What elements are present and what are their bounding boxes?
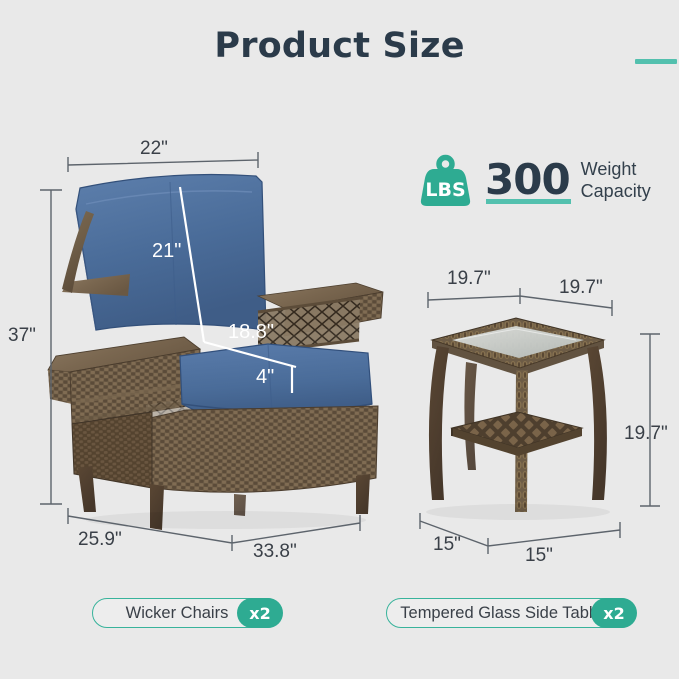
dim-table-top-depth: 19.7" <box>559 277 603 299</box>
dim-table-top-width: 19.7" <box>447 268 491 290</box>
product-illustrations <box>0 0 679 679</box>
title-underline-accent <box>635 59 677 64</box>
weight-capacity-block: LBS 300 Weight Capacity <box>418 152 651 208</box>
product-tag-chair[interactable]: Wicker Chairs x2 <box>92 598 282 630</box>
dim-chair-width-top: 22" <box>140 138 168 160</box>
product-tag-side-table-label: Tempered Glass Side Table <box>400 604 601 623</box>
product-tag-side-table[interactable]: Tempered Glass Side Table x2 <box>386 598 636 630</box>
product-tag-chair-label: Wicker Chairs <box>126 604 229 623</box>
weight-caption-line1: Weight <box>581 158 651 180</box>
lbs-icon-label: LBS <box>425 179 465 201</box>
dim-chair-depth-base: 25.9" <box>78 529 122 551</box>
infographic-canvas: Product Size <box>0 0 679 679</box>
title-container: Product Size <box>0 26 679 66</box>
cushion-callout-lines <box>180 187 296 393</box>
dim-chair-back-height: 21" <box>152 240 181 263</box>
dim-table-base-depth: 15" <box>433 534 461 556</box>
dim-chair-cushion-thickness: 4" <box>256 366 274 389</box>
page-title: Product Size <box>214 26 464 66</box>
product-tag-chair-pill[interactable]: Wicker Chairs x2 <box>92 598 282 628</box>
dimension-lines <box>40 152 660 554</box>
product-tag-side-table-pill[interactable]: Tempered Glass Side Table x2 <box>386 598 636 628</box>
weight-value: 300 <box>485 159 570 201</box>
dim-chair-seat-depth: 18.8" <box>228 321 274 344</box>
wicker-chair-illustration <box>48 175 383 531</box>
product-tag-chair-quantity: x2 <box>237 598 283 628</box>
dim-chair-width-base: 33.8" <box>253 541 297 563</box>
weight-value-wrap: 300 <box>485 159 570 201</box>
dim-table-base-width: 15" <box>525 545 553 567</box>
weight-value-underline <box>486 199 571 204</box>
weight-caption-line2: Capacity <box>581 180 651 202</box>
product-tag-side-table-quantity: x2 <box>591 598 637 628</box>
lbs-weight-icon: LBS <box>418 152 472 208</box>
weight-capacity-caption: Weight Capacity <box>581 158 651 202</box>
dim-chair-total-height: 37" <box>8 325 36 347</box>
dim-table-height: 19.7" <box>624 423 668 445</box>
side-table-illustration <box>426 318 610 520</box>
